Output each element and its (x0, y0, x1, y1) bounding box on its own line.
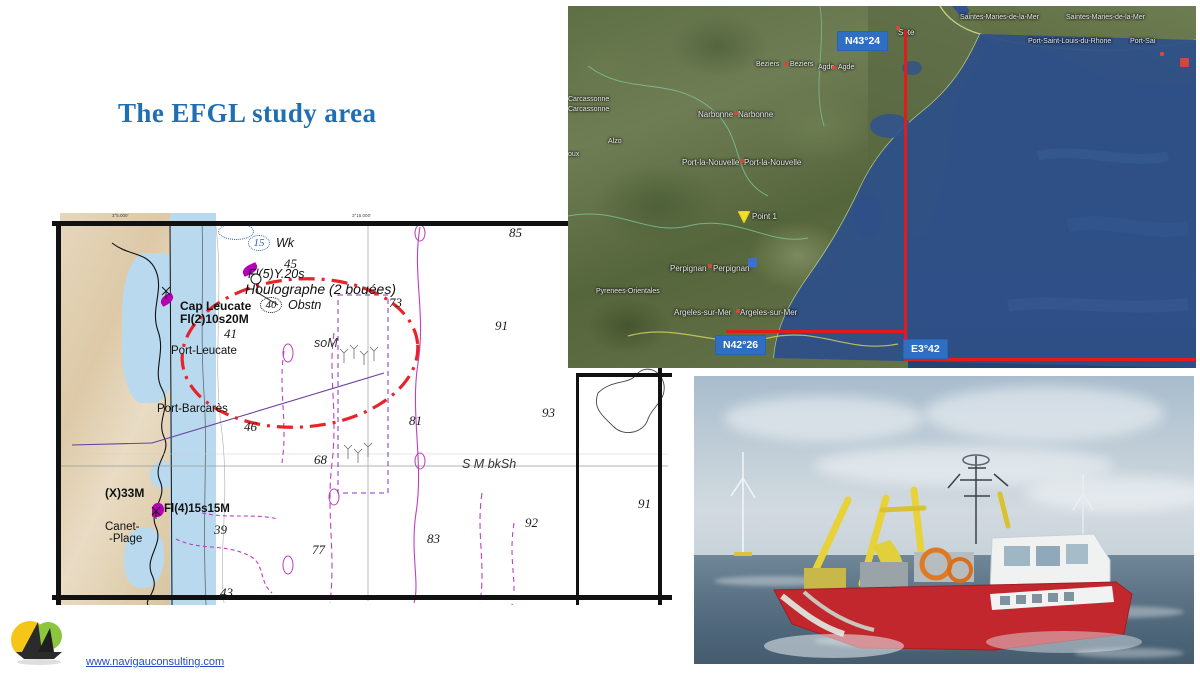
sounding-93: 93 (542, 405, 555, 421)
boundary-line-vertical-north (904, 30, 907, 332)
map-label-saintes-maries-1: Saintes-Maries-de-la-Mer (960, 14, 1039, 21)
map-label-port-la-nouvelle-2: Port-la-Nouvelle (744, 158, 801, 167)
slide-root: The EFGL study area (0, 0, 1200, 677)
map-label-carcassonne-1: Carcassonne (568, 96, 609, 103)
footer-website-link[interactable]: www.navigauconsulting.com (86, 656, 224, 668)
navigau-consulting-logo (8, 616, 70, 666)
sounding-85: 85 (509, 225, 522, 241)
chart-border-inset-divider (576, 373, 672, 377)
page-title: The EFGL study area (118, 98, 376, 129)
map-label-argeles-2: Argeles-sur-Mer (740, 308, 797, 317)
map-poi-blue-icon (748, 254, 757, 272)
map-label-perpignan-2: Perpignan (713, 264, 749, 273)
map-poi-sete (896, 26, 900, 30)
map-label-oux: oux (568, 151, 579, 158)
coordinate-label-e342: E3°42 (904, 340, 947, 358)
map-label-point-1: Point 1 (752, 212, 777, 221)
map-label-port-la-nouvelle-1: Port-la-Nouvelle (682, 158, 739, 167)
map-label-port-saint-louis: Port-Saint-Louis-du-Rhone (1028, 38, 1111, 45)
point-1-marker-icon[interactable] (738, 210, 750, 228)
chart-border-bottom (52, 595, 672, 600)
light-canet: Fl(4)15s15M (164, 503, 230, 515)
sounding-45: 45 (284, 256, 297, 272)
seabed-som: soM (314, 336, 338, 350)
chart-border-left (56, 221, 61, 605)
map-poi-beziers (784, 62, 788, 66)
place-port-barcares: Port-Barcarès (157, 403, 228, 415)
sounding-83: 83 (427, 531, 440, 547)
sounding-46: 46 (244, 419, 257, 435)
place-cap-leucate: Cap Leucate (180, 299, 251, 313)
map-label-alzo: Alzo (608, 138, 622, 145)
photo-cloud-2 (924, 386, 1164, 441)
wind-turbine-left-icon (730, 452, 756, 556)
map-label-saintes-maries-2: Saintes-Maries-de-la-Mer (1066, 14, 1145, 21)
grid-label-top: 3°15.000' (352, 213, 371, 218)
sounding-68: 68 (314, 452, 327, 468)
map-label-pyrenees-orientales: Pyrenees-Orientales (596, 288, 660, 295)
place-canet-line1: Canet- (105, 521, 140, 533)
boundary-line-horizontal-south (726, 330, 906, 333)
place-canet-line2: -Plage (109, 533, 142, 545)
ship-photograph (694, 376, 1194, 664)
map-label-narbonne-1: Narbonne (698, 110, 733, 119)
sounding-77: 77 (312, 542, 325, 558)
map-badge-icon (1180, 58, 1189, 67)
coordinate-label-n4324: N43°24 (838, 32, 887, 50)
map-label-argeles-1: Argeles-sur-Mer (674, 308, 731, 317)
sounding-81: 81 (409, 413, 422, 429)
sounding-73: 73 (389, 295, 402, 311)
map-poi-perpignan (708, 264, 712, 268)
map-label-beziers-1: Beziers (756, 61, 779, 68)
map-label-carcassonne-2: Carcassonne (568, 106, 609, 113)
seabed-sm-bksh: S M bkSh (462, 457, 516, 471)
map-poi-narbonne (734, 111, 738, 115)
cable-laying-vessel (764, 434, 1154, 664)
sounding-41: 41 (224, 326, 237, 342)
satellite-map[interactable]: Saintes-Maries-de-la-Mer Saintes-Maries-… (568, 6, 1196, 368)
map-label-narbonne-2: Narbonne (738, 110, 773, 119)
map-label-port-saint-louis-2: Port-Sai (1130, 38, 1155, 45)
coordinate-label-n4226: N42°26 (716, 336, 765, 354)
sounding-91b: 91 (638, 496, 651, 512)
map-poi-agde (832, 66, 836, 70)
map-poi-port-la-nouvelle (740, 159, 744, 163)
place-port-leucate: Port-Leucate (171, 345, 237, 357)
light-cap-leucate: Fl(2)10s20M (180, 312, 249, 326)
map-label-agde-2: Agde (838, 64, 854, 71)
boundary-line-horizontal-east (904, 358, 1196, 361)
map-poi-argeles (736, 309, 740, 313)
chart-inset-left-edge (576, 373, 579, 605)
map-label-perpignan-1: Perpignan (670, 264, 706, 273)
sounding-92: 92 (525, 515, 538, 531)
sounding-39: 39 (214, 522, 227, 538)
sounding-91a: 91 (495, 318, 508, 334)
map-label-beziers-2: Beziers (790, 61, 813, 68)
map-poi-rhone (1160, 52, 1164, 56)
map-vector-overlay (568, 6, 1196, 368)
light-x33m: (X)33M (105, 486, 144, 500)
grid-label-top-left: 3°5.000' (112, 213, 128, 218)
